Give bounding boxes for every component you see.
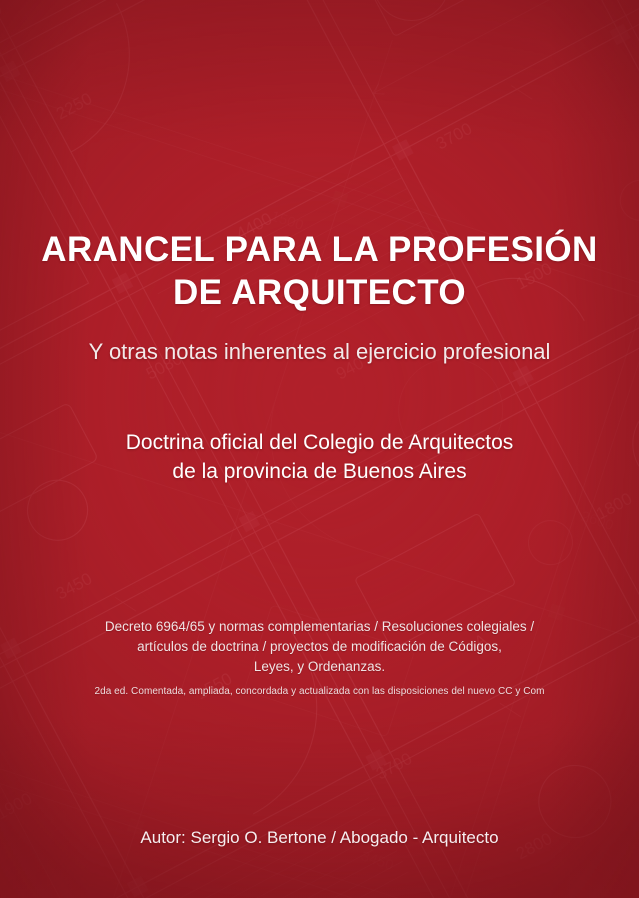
cover-subtitle: Y otras notas inherentes al ejercicio pr… [0, 338, 639, 366]
cover-content: ARANCEL PARA LA PROFESIÓN DE ARQUITECTO … [0, 0, 639, 898]
fineprint-line-1: Decreto 6964/65 y normas complementarias… [0, 617, 639, 637]
cover-doctrine: Doctrina oficial del Colegio de Arquitec… [0, 428, 639, 486]
doctrine-line-1: Doctrina oficial del Colegio de Arquitec… [0, 428, 639, 457]
title-line-1: ARANCEL PARA LA PROFESIÓN [0, 228, 639, 271]
cover-fineprint: Decreto 6964/65 y normas complementarias… [0, 617, 639, 677]
book-cover: 2250 4400 5080 1100 2500 3700 1500 940 5… [0, 0, 639, 898]
fineprint-line-3: Leyes, y Ordenanzas. [0, 657, 639, 677]
title-line-2: DE ARQUITECTO [0, 271, 639, 314]
author-line: Autor: Sergio O. Bertone / Abogado - Arq… [0, 828, 639, 848]
cover-title: ARANCEL PARA LA PROFESIÓN DE ARQUITECTO [0, 228, 639, 314]
fineprint-line-2: artículos de doctrina / proyectos de mod… [0, 637, 639, 657]
edition-note: 2da ed. Comentada, ampliada, concordada … [0, 686, 639, 697]
doctrine-line-2: de la provincia de Buenos Aires [0, 457, 639, 486]
